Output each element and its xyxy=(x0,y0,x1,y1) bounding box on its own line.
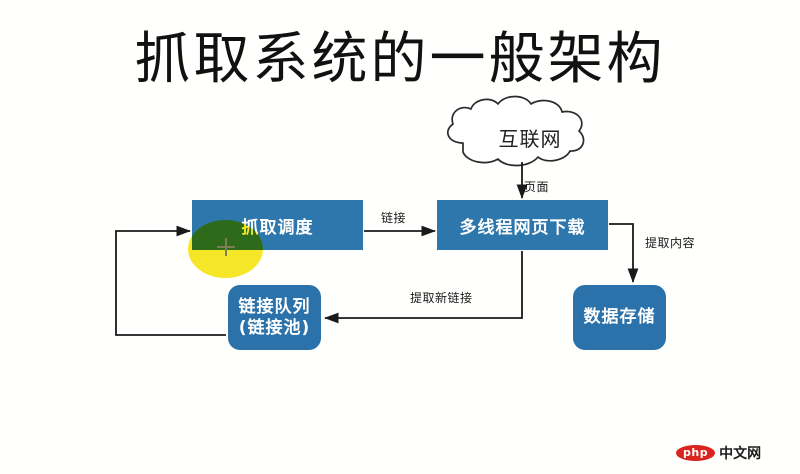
edge-label-extract-new-links: 提取新链接 xyxy=(410,289,473,306)
php-logo-icon: php xyxy=(676,445,715,461)
edge-label-page: 页面 xyxy=(524,178,549,195)
edge-downloader-to-storage xyxy=(609,224,633,282)
node-data-storage-label: 数据存储 xyxy=(584,307,656,328)
crosshair-cursor-icon xyxy=(217,238,235,256)
node-data-storage[interactable]: 数据存储 xyxy=(573,285,666,350)
edge-label-link: 链接 xyxy=(381,209,406,226)
watermark-text: 中文网 xyxy=(719,443,761,463)
slide-canvas: 抓取系统的一般架构 互联网 抓取调度 多线程网页下载 链接队列 (链接池) xyxy=(0,0,800,474)
edge-downloader-to-queue xyxy=(325,251,522,318)
edge-label-extract-content: 提取内容 xyxy=(645,234,695,251)
node-downloader[interactable]: 多线程网页下载 xyxy=(437,200,608,250)
cloud-label-internet: 互联网 xyxy=(470,123,590,152)
node-link-queue-label-line1: 链接队列 xyxy=(239,297,311,317)
node-link-queue[interactable]: 链接队列 (链接池) xyxy=(228,285,321,350)
node-downloader-label: 多线程网页下载 xyxy=(460,213,586,238)
node-link-queue-label-line2: (链接池) xyxy=(239,318,311,338)
node-link-queue-label: 链接队列 (链接池) xyxy=(239,297,311,339)
watermark: php 中文网 xyxy=(676,443,761,463)
